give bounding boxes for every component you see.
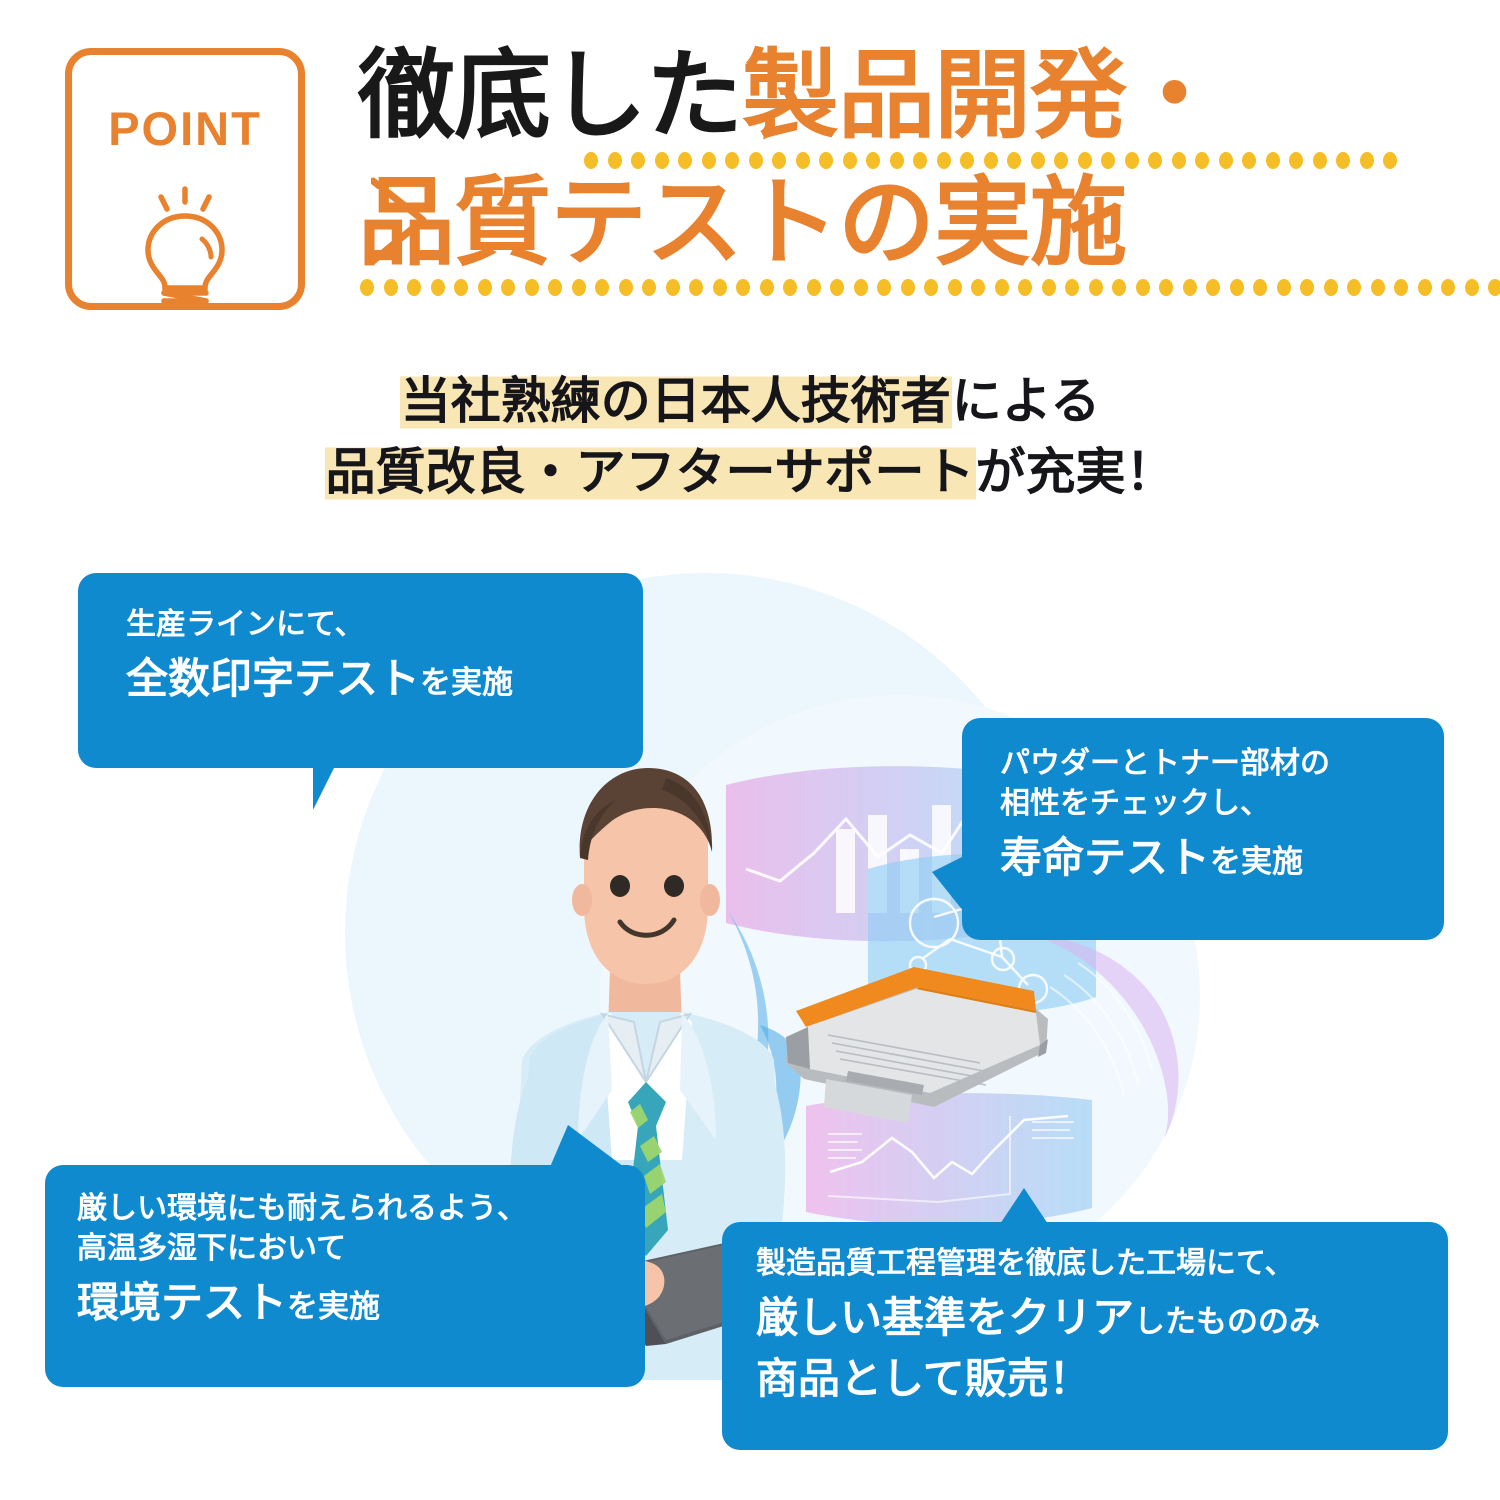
environment-test-line-2: 高温多湿下において [77, 1229, 645, 1269]
bubble-tail [932, 856, 964, 912]
infographic-canvas: POINT [0, 0, 1500, 1500]
point-badge-label: POINT [72, 101, 298, 156]
lifetime-test-bubble: パウダーとトナー部材の 相性をチェックし、 寿命テストを実施 [962, 718, 1444, 940]
bubble-tail [550, 1125, 624, 1167]
environment-test-line-1: 厳しい環境にも耐えられるよう、 [77, 1189, 645, 1229]
emphasis-dots-row-2 [358, 279, 1448, 296]
print-test-line-2: 全数印字テストを実施 [126, 678, 513, 697]
print-test-bubble: 生産ラインにて、 全数印字テストを実施 [78, 573, 643, 768]
environment-test-line-3: 環境テストを実施 [77, 1302, 380, 1321]
headline-line-1-black: 徹底した [358, 39, 742, 152]
print-test-line-2-strong: 全数印字テスト [126, 654, 420, 703]
headline-line-1-orange: 製品開発・ [742, 39, 1222, 152]
print-test-line-2-tail: を実施 [420, 665, 513, 701]
subheading-line-1: 当社熟練の日本人技術者による [0, 366, 1500, 437]
lifetime-test-line-3: 寿命テストを実施 [1000, 857, 1303, 876]
subheading-line-1-highlight: 当社熟練の日本人技術者 [400, 372, 952, 430]
subheading: 当社熟練の日本人技術者による 品質改良・アフターサポートが充実！ [0, 366, 1500, 508]
factory-quality-bubble: 製造品質工程管理を徹底した工場にて、 厳しい基準をクリアしたもののみ 商品として… [722, 1222, 1448, 1450]
environment-test-bubble: 厳しい環境にも耐えられるよう、 高温多湿下において 環境テストを実施 [45, 1165, 645, 1387]
factory-quality-line-3: 商品として販売！ [756, 1345, 1448, 1406]
factory-quality-line-2: 厳しい基準をクリアしたもののみ [756, 1317, 1320, 1336]
bubble-tail [313, 766, 369, 810]
subheading-line-2-plain: が充実！ [976, 443, 1176, 501]
environment-test-line-3-strong: 環境テスト [77, 1278, 287, 1327]
lightbulb-icon [126, 183, 244, 316]
headline: 徹底した製品開発・ 品質テストの実施 [358, 44, 1448, 298]
subheading-line-2-highlight: 品質改良・アフターサポート [325, 443, 976, 501]
environment-test-line-3-tail: を実施 [287, 1289, 380, 1325]
bubble-tail [1000, 1188, 1048, 1224]
headline-line-1: 徹底した製品開発・ [358, 44, 1448, 148]
lifetime-test-line-1: パウダーとトナー部材の [1000, 744, 1444, 784]
factory-quality-line-2-strong: 厳しい基準をクリア [756, 1293, 1134, 1342]
factory-quality-line-1: 製造品質工程管理を徹底した工場にて、 [756, 1244, 1448, 1284]
headline-line-2-orange: 品質テストの実施 [358, 166, 1126, 279]
lifetime-test-line-3-strong: 寿命テスト [1000, 833, 1210, 882]
headline-line-2: 品質テストの実施 [358, 171, 1448, 275]
subheading-line-1-plain: による [952, 372, 1101, 430]
lifetime-test-line-2: 相性をチェックし、 [1000, 784, 1444, 824]
subheading-line-2: 品質改良・アフターサポートが充実！ [0, 437, 1500, 508]
print-test-line-1: 生産ラインにて、 [126, 605, 643, 645]
factory-quality-line-2-tail: したもののみ [1134, 1304, 1320, 1340]
lifetime-test-line-3-tail: を実施 [1210, 844, 1303, 880]
point-badge: POINT [65, 48, 305, 310]
